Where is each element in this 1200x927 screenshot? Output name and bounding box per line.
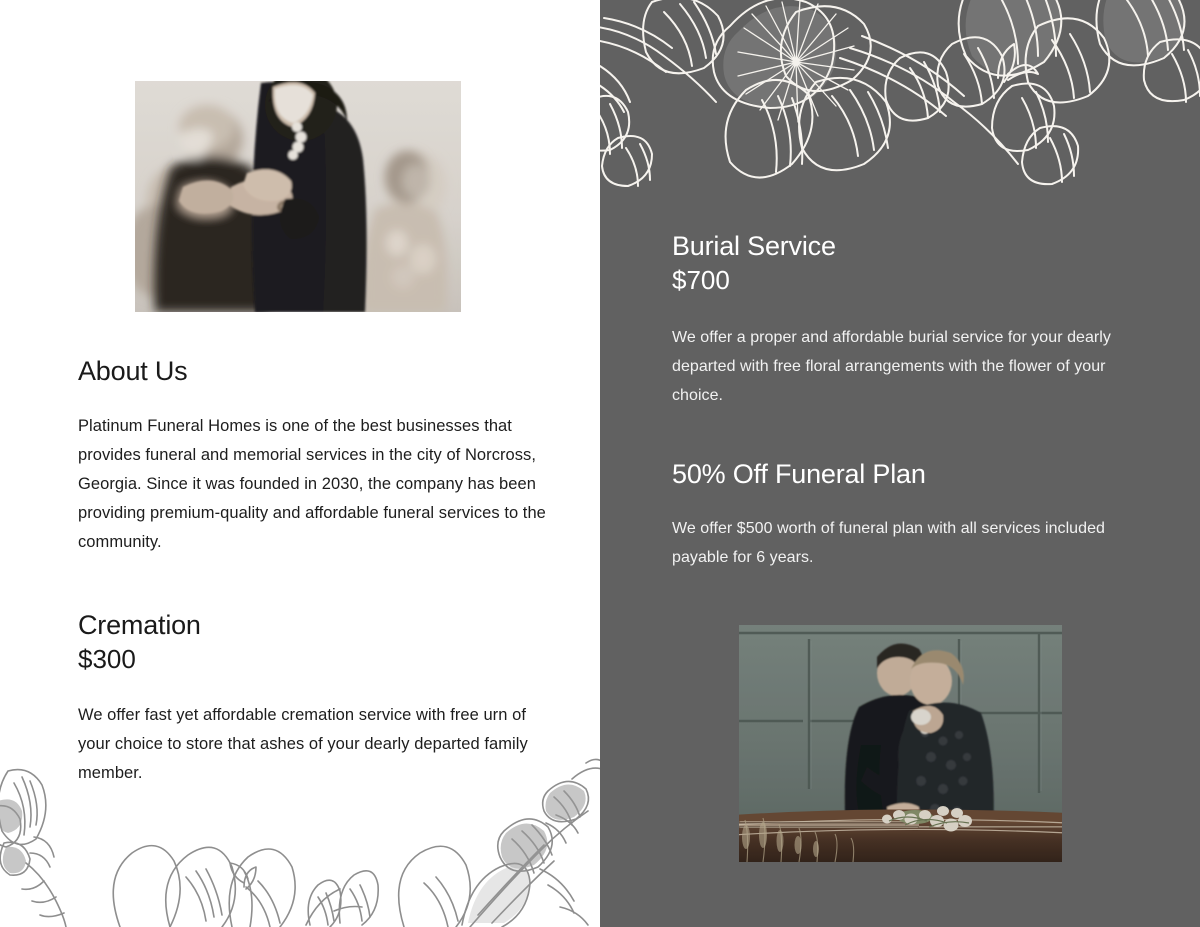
left-panel: About Us Platinum Funeral Homes is one o… [0, 0, 600, 927]
cremation-body: We offer fast yet affordable cremation s… [78, 701, 548, 788]
about-us-block: About Us Platinum Funeral Homes is one o… [78, 356, 548, 557]
left-text-column: About Us Platinum Funeral Homes is one o… [78, 356, 548, 788]
brochure-page: About Us Platinum Funeral Homes is one o… [0, 0, 1200, 927]
mourners-photo [135, 81, 461, 312]
burial-service-body: We offer a proper and affordable burial … [672, 323, 1132, 410]
funeral-plan-body: We offer $500 worth of funeral plan with… [672, 514, 1132, 572]
about-us-body: Platinum Funeral Homes is one of the bes… [78, 412, 548, 557]
top-right-floral-decoration [600, 0, 1200, 218]
cremation-block: Cremation $300 We offer fast yet afforda… [78, 610, 548, 788]
right-text-column: Burial Service $700 We offer a proper an… [672, 230, 1132, 572]
funeral-plan-heading: 50% Off Funeral Plan [672, 458, 1132, 490]
cremation-heading: Cremation [78, 610, 548, 642]
burial-service-price: $700 [672, 265, 1132, 296]
cremation-price: $300 [78, 644, 548, 675]
casket-couple-photo [739, 625, 1062, 862]
burial-service-block: Burial Service $700 We offer a proper an… [672, 230, 1132, 410]
burial-service-heading: Burial Service [672, 230, 1132, 262]
about-us-heading: About Us [78, 356, 548, 388]
funeral-plan-block: 50% Off Funeral Plan We offer $500 worth… [672, 458, 1132, 572]
